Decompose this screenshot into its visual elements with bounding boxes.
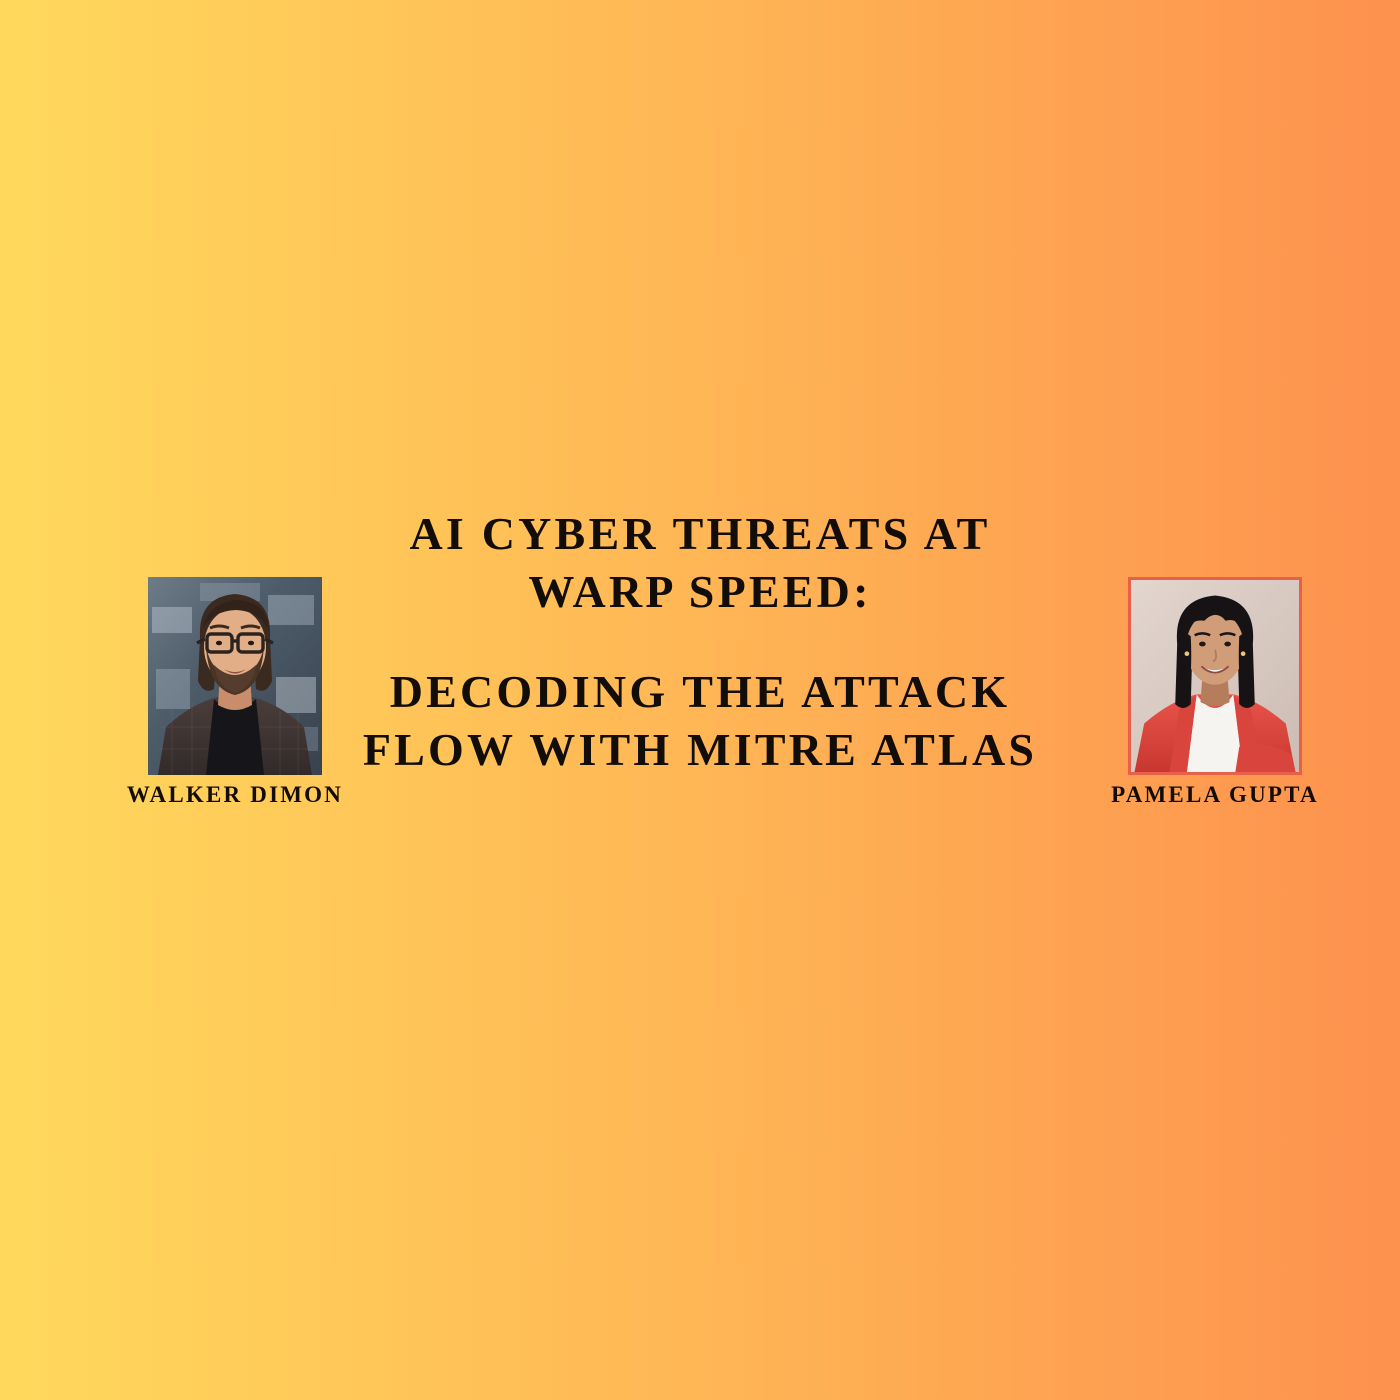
title-line-2: WARP SPEED: [340, 563, 1060, 621]
speaker-card-pamela-gupta: PAMELA GUPTA [1090, 577, 1340, 808]
headshot-man-icon [148, 577, 322, 775]
speaker-photo-pamela-gupta [1128, 577, 1302, 775]
webinar-title-card: AI CYBER THREATS AT WARP SPEED: DECODING… [0, 0, 1400, 1400]
page-title: AI CYBER THREATS AT WARP SPEED: DECODING… [340, 505, 1060, 779]
speaker-photo-walker-dimon [148, 577, 322, 775]
speaker-name-walker-dimon: WALKER DIMON [110, 782, 360, 808]
speaker-card-walker-dimon: WALKER DIMON [110, 577, 360, 808]
title-line-1: AI CYBER THREATS AT [340, 505, 1060, 563]
title-spacer [340, 621, 1060, 663]
title-line-4: FLOW WITH MITRE ATLAS [340, 721, 1060, 779]
headshot-woman-icon [1131, 580, 1299, 772]
title-line-3: DECODING THE ATTACK [340, 663, 1060, 721]
speaker-name-pamela-gupta: PAMELA GUPTA [1090, 782, 1340, 808]
